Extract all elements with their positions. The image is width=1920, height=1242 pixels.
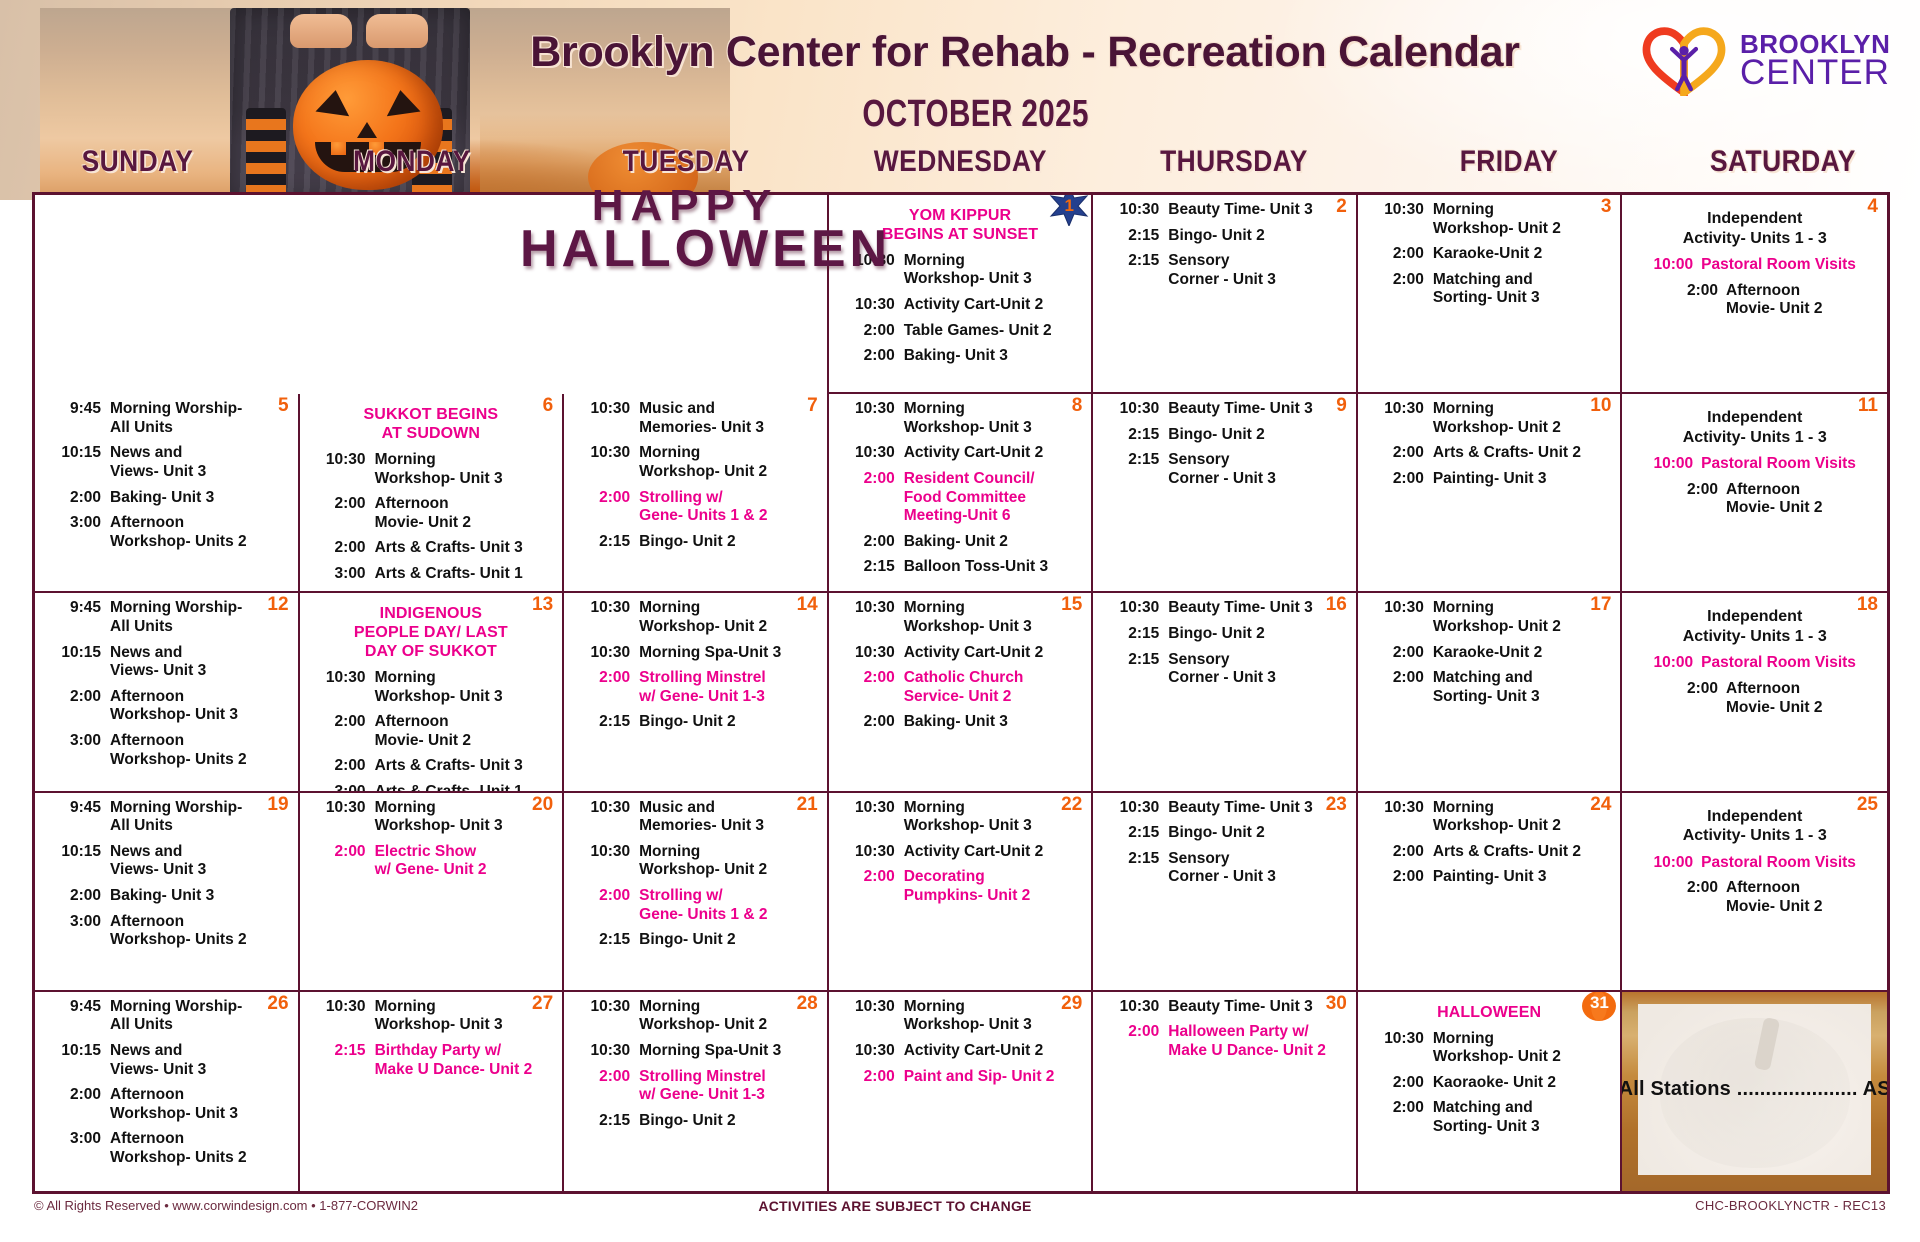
activity-description: MorningWorkshop- Unit 2 — [1433, 1030, 1613, 1067]
activity-time: 3:00 — [308, 783, 375, 793]
activity-entry[interactable]: 2:00Matching andSorting- Unit 3 — [1366, 271, 1613, 308]
activity-time: 10:30 — [1101, 400, 1168, 419]
activity-entry[interactable]: 10:30MorningWorkshop- Unit 3 — [837, 599, 1084, 636]
activity-entry[interactable]: 3:00AfternoonWorkshop- Units 2 — [43, 913, 290, 950]
activity-entry[interactable]: 2:00Painting- Unit 3 — [1366, 868, 1613, 887]
calendar-day-cell-2[interactable]: 210:30Beauty Time- Unit 32:15Bingo- Unit… — [1093, 195, 1358, 394]
day-number: 28 — [797, 994, 818, 1013]
activity-entry[interactable]: 10:15News andViews- Unit 3 — [43, 644, 290, 681]
calendar-header: Brooklyn Center for Rehab - Recreation C… — [0, 0, 1920, 200]
activity-entry[interactable]: 10:30Beauty Time- Unit 3 — [1101, 599, 1348, 618]
activity-description: Activity Cart-Unit 2 — [904, 843, 1084, 862]
activity-entry[interactable]: 10:30MorningWorkshop- Unit 3 — [837, 998, 1084, 1035]
activity-entry[interactable]: 3:00AfternoonWorkshop- Units 2 — [43, 514, 290, 551]
activity-time: 10:15 — [43, 843, 110, 880]
activity-entry[interactable]: 2:00Arts & Crafts- Unit 2 — [1366, 444, 1613, 463]
activity-description: SensoryCorner - Unit 3 — [1168, 850, 1348, 887]
activity-entry[interactable]: 2:00Baking- Unit 2 — [837, 533, 1084, 552]
activity-description: Baking- Unit 2 — [904, 533, 1084, 552]
activity-time: 10:30 — [572, 644, 639, 663]
activity-entry[interactable]: 10:30Activity Cart-Unit 2 — [837, 444, 1084, 463]
day-number: 16 — [1326, 595, 1347, 614]
calendar-day-cell-10[interactable]: 1010:30MorningWorkshop- Unit 22:00Arts &… — [1358, 394, 1623, 593]
activity-entry[interactable]: 2:00Karaoke-Unit 2 — [1366, 245, 1613, 264]
activity-time: 10:30 — [1101, 599, 1168, 618]
day-number: 5 — [278, 396, 289, 415]
activity-description: Beauty Time- Unit 3 — [1168, 599, 1348, 618]
activity-entry[interactable]: 2:00Catholic ChurchService- Unit 2 — [837, 669, 1084, 706]
activity-description: MorningWorkshop- Unit 2 — [639, 599, 819, 636]
activity-time: 2:15 — [837, 558, 904, 577]
activity-description: News andViews- Unit 3 — [110, 843, 290, 880]
weekday-label: WEDNESDAY — [873, 145, 1046, 179]
activity-time: 10:30 — [837, 444, 904, 463]
weekday-header-row: SUNDAYMONDAYTUESDAYWEDNESDAYTHURSDAYFRID… — [0, 145, 1920, 197]
activity-entry[interactable]: 10:30Beauty Time- Unit 3 — [1101, 201, 1348, 220]
activity-entry[interactable]: 3:00Arts & Crafts- Unit 1 — [308, 783, 555, 793]
activity-description: Balloon Toss-Unit 3 — [904, 558, 1084, 577]
weekday-label: TUESDAY — [622, 145, 749, 179]
activity-entry[interactable]: 10:30MorningWorkshop- Unit 3 — [308, 998, 555, 1035]
calendar-day-cell-17[interactable]: 1710:30MorningWorkshop- Unit 22:00Karaok… — [1358, 593, 1623, 792]
activity-entry[interactable]: 10:30MorningWorkshop- Unit 2 — [572, 444, 819, 481]
activity-entry[interactable]: 10:00Pastoral Room Visits — [1630, 654, 1879, 673]
activity-time: 10:30 — [837, 998, 904, 1035]
activity-entry[interactable]: 2:15SensoryCorner - Unit 3 — [1101, 850, 1348, 887]
activity-description: Baking- Unit 3 — [904, 713, 1084, 732]
calendar-day-cell-16[interactable]: 1610:30Beauty Time- Unit 32:15Bingo- Uni… — [1093, 593, 1358, 792]
activity-entry[interactable]: 2:00Strolling Minstrelw/ Gene- Unit 1-3 — [572, 1068, 819, 1105]
activity-entry[interactable]: 10:30Beauty Time- Unit 3 — [1101, 799, 1348, 818]
activity-entry[interactable]: 2:00AfternoonMovie- Unit 2 — [1630, 481, 1879, 518]
activity-entry[interactable]: 10:30MorningWorkshop- Unit 2 — [1366, 201, 1613, 238]
activity-time: 10:30 — [572, 400, 639, 437]
activity-entry[interactable]: 10:15News andViews- Unit 3 — [43, 1042, 290, 1079]
activity-time: 2:00 — [308, 757, 375, 776]
activity-description: Morning Spa-Unit 3 — [639, 644, 819, 663]
activity-time: 2:00 — [308, 539, 375, 558]
activity-time: 2:00 — [1101, 1023, 1168, 1060]
heart-person-logo-icon — [1640, 26, 1728, 96]
activity-description: Beauty Time- Unit 3 — [1168, 799, 1348, 818]
activity-entry[interactable]: 2:00AfternoonMovie- Unit 2 — [1630, 879, 1879, 916]
calendar-day-cell-3[interactable]: 310:30MorningWorkshop- Unit 22:00Karaoke… — [1358, 195, 1623, 394]
activity-entry[interactable]: 9:45Morning Worship-All Units — [43, 599, 290, 636]
activity-description: Baking- Unit 3 — [110, 489, 290, 508]
activity-description: Arts & Crafts- Unit 2 — [1433, 843, 1613, 862]
activity-description: MorningWorkshop- Unit 3 — [375, 451, 555, 488]
activity-time: 2:00 — [1366, 470, 1433, 489]
activity-entry[interactable]: 10:30Activity Cart-Unit 2 — [837, 644, 1084, 663]
calendar-day-cell-30[interactable]: 3010:30Beauty Time- Unit 32:00Halloween … — [1093, 992, 1358, 1191]
activity-description: Halloween Party w/Make U Dance- Unit 2 — [1168, 1023, 1348, 1060]
activity-entry[interactable]: 10:30Morning Spa-Unit 3 — [572, 644, 819, 663]
activity-description: Activity Cart-Unit 2 — [904, 1042, 1084, 1061]
activity-entry[interactable]: 3:00AfternoonWorkshop- Units 2 — [43, 732, 290, 769]
activity-entry[interactable]: 2:00Baking- Unit 3 — [837, 347, 1084, 366]
activity-description: Karaoke-Unit 2 — [1433, 245, 1613, 264]
activity-description: AfternoonWorkshop- Units 2 — [110, 913, 290, 950]
activity-time: 10:00 — [1654, 256, 1702, 275]
activity-entry[interactable]: 2:15SensoryCorner - Unit 3 — [1101, 252, 1348, 289]
activity-description: Painting- Unit 3 — [1433, 868, 1613, 887]
activity-entry[interactable]: 2:15Bingo- Unit 2 — [1101, 426, 1348, 445]
activity-time: 10:15 — [43, 444, 110, 481]
activity-entry[interactable]: 10:30Beauty Time- Unit 3 — [1101, 400, 1348, 419]
activity-entry[interactable]: 10:30Music andMemories- Unit 3 — [572, 400, 819, 437]
activity-entry[interactable]: 2:00AfternoonWorkshop- Unit 3 — [43, 688, 290, 725]
activity-time: 2:00 — [43, 1086, 110, 1123]
activity-description: News andViews- Unit 3 — [110, 444, 290, 481]
weekday-label: SATURDAY — [1710, 145, 1856, 179]
activity-description: SensoryCorner - Unit 3 — [1168, 651, 1348, 688]
activity-entry[interactable]: 2:00Matching andSorting- Unit 3 — [1366, 1099, 1613, 1136]
activity-time: 2:00 — [1366, 669, 1433, 706]
activity-entry[interactable]: 2:00Strolling w/Gene- Units 1 & 2 — [572, 489, 819, 526]
activity-entry[interactable]: 2:00Strolling w/Gene- Units 1 & 2 — [572, 887, 819, 924]
activity-time: 2:00 — [837, 868, 904, 905]
activity-entry[interactable]: 10:00Pastoral Room Visits — [1630, 455, 1879, 474]
activity-entry[interactable]: 10:15News andViews- Unit 3 — [43, 843, 290, 880]
activity-time: 10:30 — [1101, 201, 1168, 220]
calendar-day-cell-14[interactable]: 1410:30MorningWorkshop- Unit 210:30Morni… — [564, 593, 829, 792]
activity-time: 2:15 — [1101, 451, 1168, 488]
activity-description: Birthday Party w/Make U Dance- Unit 2 — [375, 1042, 555, 1079]
activity-time: 3:00 — [43, 1130, 110, 1167]
day-number: 17 — [1590, 595, 1611, 614]
day-number: 11 — [1858, 396, 1878, 415]
activity-entry[interactable]: 10:30MorningWorkshop- Unit 2 — [572, 843, 819, 880]
activity-time: 2:00 — [43, 688, 110, 725]
activity-entry[interactable]: 2:15SensoryCorner - Unit 3 — [1101, 651, 1348, 688]
activity-entry[interactable]: 2:15SensoryCorner - Unit 3 — [1101, 451, 1348, 488]
activity-description: Electric Showw/ Gene- Unit 2 — [375, 843, 555, 880]
activity-time: 10:30 — [1366, 599, 1433, 636]
calendar-day-cell-15[interactable]: 1510:30MorningWorkshop- Unit 310:30Activ… — [829, 593, 1094, 792]
activity-entry[interactable]: 2:00DecoratingPumpkins- Unit 2 — [837, 868, 1084, 905]
activity-time: 2:15 — [1101, 426, 1168, 445]
activity-entry[interactable]: 2:15Bingo- Unit 2 — [572, 1112, 819, 1131]
day-number: 1 — [1049, 195, 1089, 226]
activity-time: 2:00 — [837, 470, 904, 526]
halloween-line-2: HALLOWEEN — [520, 226, 850, 274]
weekday-header-wednesday: WEDNESDAY — [823, 145, 1097, 197]
activity-entry[interactable]: 10:00Pastoral Room Visits — [1630, 256, 1879, 275]
activity-time: 2:15 — [1101, 651, 1168, 688]
day-number: 2 — [1336, 197, 1347, 216]
activity-entry[interactable]: 10:30MorningWorkshop- Unit 3 — [837, 799, 1084, 836]
day-number: 22 — [1061, 795, 1082, 814]
activity-description: MorningWorkshop- Unit 2 — [639, 843, 819, 880]
activity-entry[interactable]: 10:30MorningWorkshop- Unit 3 — [308, 799, 555, 836]
activity-description: Morning Worship-All Units — [110, 799, 290, 836]
activity-time: 2:00 — [837, 347, 904, 366]
activity-description: AfternoonWorkshop- Unit 3 — [110, 1086, 290, 1123]
activity-entry[interactable]: 10:30Activity Cart-Unit 2 — [837, 296, 1084, 315]
activity-entry[interactable]: 10:30Activity Cart-Unit 2 — [837, 1042, 1084, 1061]
activity-description: Matching andSorting- Unit 3 — [1433, 271, 1613, 308]
activity-time: 10:30 — [1101, 799, 1168, 818]
activity-entry[interactable]: 10:30MorningWorkshop- Unit 3 — [837, 400, 1084, 437]
activity-time: 3:00 — [43, 732, 110, 769]
activity-time: 2:00 — [1687, 879, 1726, 916]
activity-entry[interactable]: 2:15Bingo- Unit 2 — [572, 533, 819, 552]
activity-description: AfternoonWorkshop- Units 2 — [110, 514, 290, 551]
activity-entry[interactable]: 2:00Electric Showw/ Gene- Unit 2 — [308, 843, 555, 880]
activity-description: Arts & Crafts- Unit 3 — [375, 539, 555, 558]
calendar-day-cell-5[interactable]: 59:45Morning Worship-All Units10:15News … — [35, 394, 300, 593]
activity-time: 2:15 — [1101, 625, 1168, 644]
activity-entry[interactable]: 10:30Beauty Time- Unit 3 — [1101, 998, 1348, 1017]
activity-entry[interactable]: 2:15Birthday Party w/Make U Dance- Unit … — [308, 1042, 555, 1079]
activity-entry[interactable]: 10:00Pastoral Room Visits — [1630, 854, 1879, 873]
brand-logo: BROOKLYN CENTER — [1640, 22, 1890, 100]
calendar-day-cell-13[interactable]: 13INDIGENOUSPEOPLE DAY/ LASTDAY OF SUKKO… — [300, 593, 565, 792]
activity-time: 9:45 — [43, 799, 110, 836]
activity-description: Arts & Crafts- Unit 3 — [375, 757, 555, 776]
activity-time: 2:00 — [1366, 271, 1433, 308]
activity-entry[interactable]: 2:15Bingo- Unit 2 — [1101, 227, 1348, 246]
weekday-header-saturday: SATURDAY — [1646, 145, 1920, 197]
calendar-day-cell-29[interactable]: 2910:30MorningWorkshop- Unit 310:30Activ… — [829, 992, 1094, 1191]
activity-entry[interactable]: 2:15Bingo- Unit 2 — [572, 931, 819, 950]
page-title: Brooklyn Center for Rehab - Recreation C… — [0, 28, 1920, 77]
activity-entry[interactable]: 2:15Bingo- Unit 2 — [572, 713, 819, 732]
activity-description: MorningWorkshop- Unit 2 — [1433, 400, 1613, 437]
weekday-label: MONDAY — [353, 145, 471, 179]
activity-description: Resident Council/Food CommitteeMeeting-U… — [904, 470, 1084, 526]
activity-description: Music andMemories- Unit 3 — [639, 799, 819, 836]
activity-time: 2:15 — [572, 931, 639, 950]
activity-description: Morning Worship-All Units — [110, 400, 290, 437]
activity-entry[interactable]: 2:00AfternoonMovie- Unit 2 — [308, 495, 555, 532]
activity-entry[interactable]: 10:30Music andMemories- Unit 3 — [572, 799, 819, 836]
calendar-day-cell-28[interactable]: 2810:30MorningWorkshop- Unit 210:30Morni… — [564, 992, 829, 1191]
activity-time: 3:00 — [43, 913, 110, 950]
weekday-label: FRIDAY — [1459, 145, 1557, 179]
footer-code: CHC-BROOKLYNCTR - REC13 — [1695, 1198, 1886, 1213]
activity-entry[interactable]: 2:00Strolling Minstrelw/ Gene- Unit 1-3 — [572, 669, 819, 706]
calendar-day-cell-7[interactable]: 710:30Music andMemories- Unit 310:30Morn… — [564, 394, 829, 593]
day-special-header: HALLOWEEN — [1366, 1004, 1613, 1023]
activity-description: Morning Worship-All Units — [110, 998, 290, 1035]
activity-entry[interactable]: 3:00AfternoonWorkshop- Units 2 — [43, 1130, 290, 1167]
activity-entry[interactable]: 2:00Karaoke-Unit 2 — [1366, 644, 1613, 663]
day-number: 6 — [543, 396, 554, 415]
activity-time: 10:00 — [1654, 654, 1702, 673]
activity-entry[interactable]: 9:45Morning Worship-All Units — [43, 799, 290, 836]
activity-entry[interactable]: 2:00Baking- Unit 3 — [837, 713, 1084, 732]
activity-description: AfternoonWorkshop- Units 2 — [110, 732, 290, 769]
activity-entry[interactable]: 10:30MorningWorkshop- Unit 2 — [1366, 1030, 1613, 1067]
activity-description: MorningWorkshop- Unit 2 — [1433, 599, 1613, 636]
day-note: IndependentActivity- Units 1 - 3 — [1630, 807, 1879, 846]
activity-description: Bingo- Unit 2 — [639, 713, 819, 732]
calendar-day-cell-4[interactable]: 4IndependentActivity- Units 1 - 310:00Pa… — [1622, 195, 1887, 394]
activity-entry[interactable]: 10:30Morning Spa-Unit 3 — [572, 1042, 819, 1061]
calendar-day-cell-26[interactable]: 269:45Morning Worship-All Units10:15News… — [35, 992, 300, 1191]
activity-time: 10:30 — [1366, 400, 1433, 437]
activity-entry[interactable]: 2:00Arts & Crafts- Unit 3 — [308, 757, 555, 776]
day-number: 29 — [1061, 994, 1082, 1013]
activity-description: Arts & Crafts- Unit 1 — [375, 565, 555, 584]
activity-entry[interactable]: 10:30MorningWorkshop- Unit 2 — [1366, 599, 1613, 636]
day-special-header: SUKKOT BEGINSAT SUDOWN — [308, 406, 555, 444]
activity-time: 2:00 — [837, 533, 904, 552]
weekday-label: THURSDAY — [1160, 145, 1308, 179]
all-stations-box[interactable]: All Stations ..................... AS — [1622, 992, 1887, 1191]
day-number: 12 — [267, 595, 288, 614]
activity-entry[interactable]: 10:30MorningWorkshop- Unit 2 — [1366, 799, 1613, 836]
day-number: 20 — [532, 795, 553, 814]
activity-time: 2:00 — [308, 843, 375, 880]
activity-description: MorningWorkshop- Unit 3 — [904, 599, 1084, 636]
activity-time: 2:00 — [1687, 481, 1726, 518]
activity-time: 10:30 — [308, 669, 375, 706]
activity-entry[interactable]: 10:15News andViews- Unit 3 — [43, 444, 290, 481]
activity-time: 10:30 — [837, 599, 904, 636]
activity-description: MorningWorkshop- Unit 3 — [904, 400, 1084, 437]
calendar-day-cell-11[interactable]: 11IndependentActivity- Units 1 - 310:00P… — [1622, 394, 1887, 593]
activity-entry[interactable]: 2:00AfternoonMovie- Unit 2 — [1630, 282, 1879, 319]
activity-entry[interactable]: 10:30MorningWorkshop- Unit 2 — [1366, 400, 1613, 437]
activity-time: 10:30 — [837, 400, 904, 437]
day-number: 9 — [1336, 396, 1347, 415]
activity-time: 2:15 — [1101, 824, 1168, 843]
activity-description: Matching andSorting- Unit 3 — [1433, 669, 1613, 706]
calendar-day-cell-25[interactable]: 25IndependentActivity- Units 1 - 310:00P… — [1622, 793, 1887, 992]
day-number: 15 — [1061, 595, 1082, 614]
activity-time: 10:30 — [837, 644, 904, 663]
activity-description: Catholic ChurchService- Unit 2 — [904, 669, 1084, 706]
activity-description: Arts & Crafts- Unit 2 — [1433, 444, 1613, 463]
calendar-day-cell-20[interactable]: 2010:30MorningWorkshop- Unit 32:00Electr… — [300, 793, 565, 992]
activity-entry[interactable]: 10:30MorningWorkshop- Unit 3 — [308, 669, 555, 706]
activity-time: 3:00 — [308, 565, 375, 584]
activity-description: AfternoonWorkshop- Unit 3 — [110, 688, 290, 725]
calendar-day-cell-27[interactable]: 2710:30MorningWorkshop- Unit 32:15Birthd… — [300, 992, 565, 1191]
day-number: 26 — [267, 994, 288, 1013]
activity-description: SensoryCorner - Unit 3 — [1168, 451, 1348, 488]
day-number: 25 — [1857, 795, 1878, 814]
day-number: 21 — [797, 795, 818, 814]
calendar-day-cell-24[interactable]: 2410:30MorningWorkshop- Unit 22:00Arts &… — [1358, 793, 1623, 992]
activity-entry[interactable]: 9:45Morning Worship-All Units — [43, 998, 290, 1035]
activity-description: SensoryCorner - Unit 3 — [1168, 252, 1348, 289]
calendar-day-cell-31[interactable]: 31HALLOWEEN10:30MorningWorkshop- Unit 22… — [1358, 992, 1623, 1191]
activity-description: AfternoonMovie- Unit 2 — [375, 495, 555, 532]
activity-entry[interactable]: 2:00Baking- Unit 3 — [43, 489, 290, 508]
activity-entry[interactable]: 2:00Paint and Sip- Unit 2 — [837, 1068, 1084, 1087]
activity-time: 9:45 — [43, 599, 110, 636]
activity-description: MorningWorkshop- Unit 2 — [639, 444, 819, 481]
activity-entry[interactable]: 2:00AfternoonMovie- Unit 2 — [308, 713, 555, 750]
activity-entry[interactable]: 2:00AfternoonWorkshop- Unit 3 — [43, 1086, 290, 1123]
activity-description: Bingo- Unit 2 — [1168, 227, 1348, 246]
activity-entry[interactable]: 2:00Table Games- Unit 2 — [837, 322, 1084, 341]
weekday-label: SUNDAY — [81, 145, 193, 179]
activity-description: AfternoonMovie- Unit 2 — [1726, 481, 1822, 518]
activity-description: DecoratingPumpkins- Unit 2 — [904, 868, 1084, 905]
calendar-day-cell-22[interactable]: 2210:30MorningWorkshop- Unit 310:30Activ… — [829, 793, 1094, 992]
activity-time: 2:00 — [572, 887, 639, 924]
activity-time: 9:45 — [43, 400, 110, 437]
activity-description: AfternoonMovie- Unit 2 — [1726, 680, 1822, 717]
activity-entry[interactable]: 10:30MorningWorkshop- Unit 2 — [572, 599, 819, 636]
activity-description: News andViews- Unit 3 — [110, 1042, 290, 1079]
activity-description: Karaoke-Unit 2 — [1433, 644, 1613, 663]
activity-entry[interactable]: 2:15Bingo- Unit 2 — [1101, 824, 1348, 843]
activity-entry[interactable]: 10:30MorningWorkshop- Unit 2 — [572, 998, 819, 1035]
activity-entry[interactable]: 2:00AfternoonMovie- Unit 2 — [1630, 680, 1879, 717]
activity-entry[interactable]: 2:00Matching andSorting- Unit 3 — [1366, 669, 1613, 706]
calendar-day-cell-8[interactable]: 810:30MorningWorkshop- Unit 310:30Activi… — [829, 394, 1094, 593]
activity-time: 10:30 — [837, 843, 904, 862]
activity-description: Activity Cart-Unit 2 — [904, 444, 1084, 463]
activity-entry[interactable]: 2:00Kaoraoke- Unit 2 — [1366, 1074, 1613, 1093]
activity-entry[interactable]: 9:45Morning Worship-All Units — [43, 400, 290, 437]
calendar-page: Brooklyn Center for Rehab - Recreation C… — [0, 0, 1920, 1242]
calendar-grid: 1YOM KIPPURBEGINS AT SUNSET10:30MorningW… — [32, 192, 1890, 1194]
day-number: 31 — [1579, 992, 1619, 1022]
calendar-day-cell-12[interactable]: 129:45Morning Worship-All Units10:15News… — [35, 593, 300, 792]
activity-entry[interactable]: 2:00Halloween Party w/Make U Dance- Unit… — [1101, 1023, 1348, 1060]
activity-entry[interactable]: 2:00Arts & Crafts- Unit 2 — [1366, 843, 1613, 862]
activity-time: 2:00 — [572, 1068, 639, 1105]
activity-description: Bingo- Unit 2 — [639, 533, 819, 552]
calendar-day-cell-9[interactable]: 910:30Beauty Time- Unit 32:15Bingo- Unit… — [1093, 394, 1358, 593]
day-number: 27 — [532, 994, 553, 1013]
activity-entry[interactable]: 2:00Baking- Unit 3 — [43, 887, 290, 906]
activity-time: 2:00 — [1366, 245, 1433, 264]
activity-entry[interactable]: 10:30MorningWorkshop- Unit 3 — [308, 451, 555, 488]
activity-time: 10:30 — [308, 451, 375, 488]
weekday-header-sunday: SUNDAY — [0, 145, 274, 197]
activity-entry[interactable]: 10:30Activity Cart-Unit 2 — [837, 843, 1084, 862]
activity-time: 2:00 — [308, 713, 375, 750]
activity-time: 2:00 — [1687, 680, 1726, 717]
activity-time: 10:30 — [308, 799, 375, 836]
activity-entry[interactable]: 3:00Arts & Crafts- Unit 1 — [308, 565, 555, 584]
activity-entry[interactable]: 2:15Balloon Toss-Unit 3 — [837, 558, 1084, 577]
activity-description: Baking- Unit 3 — [904, 347, 1084, 366]
calendar-cell-empty — [35, 195, 300, 394]
activity-time: 10:30 — [1101, 998, 1168, 1017]
activity-description: Activity Cart-Unit 2 — [904, 644, 1084, 663]
calendar-day-cell-23[interactable]: 2310:30Beauty Time- Unit 32:15Bingo- Uni… — [1093, 793, 1358, 992]
day-number: 30 — [1326, 994, 1347, 1013]
activity-entry[interactable]: 2:00Resident Council/Food CommitteeMeeti… — [837, 470, 1084, 526]
calendar-day-cell-21[interactable]: 2110:30Music andMemories- Unit 310:30Mor… — [564, 793, 829, 992]
calendar-day-cell-19[interactable]: 199:45Morning Worship-All Units10:15News… — [35, 793, 300, 992]
activity-description: MorningWorkshop- Unit 3 — [375, 799, 555, 836]
activity-entry[interactable]: 2:00Painting- Unit 3 — [1366, 470, 1613, 489]
logo-line-2: CENTER — [1740, 57, 1890, 89]
activity-time: 2:00 — [837, 322, 904, 341]
activity-description: Bingo- Unit 2 — [639, 931, 819, 950]
calendar-day-cell-18[interactable]: 18IndependentActivity- Units 1 - 310:00P… — [1622, 593, 1887, 792]
calendar-day-cell-6[interactable]: 6SUKKOT BEGINSAT SUDOWN10:30MorningWorks… — [300, 394, 565, 593]
activity-description: Pastoral Room Visits — [1701, 455, 1856, 474]
activity-entry[interactable]: 2:15Bingo- Unit 2 — [1101, 625, 1348, 644]
weekday-header-friday: FRIDAY — [1371, 145, 1645, 197]
day-note: IndependentActivity- Units 1 - 3 — [1630, 209, 1879, 248]
activity-description: Pastoral Room Visits — [1701, 256, 1856, 275]
activity-time: 10:15 — [43, 1042, 110, 1079]
activity-time: 2:00 — [1687, 282, 1726, 319]
activity-time: 2:00 — [572, 669, 639, 706]
activity-entry[interactable]: 2:00Arts & Crafts- Unit 3 — [308, 539, 555, 558]
